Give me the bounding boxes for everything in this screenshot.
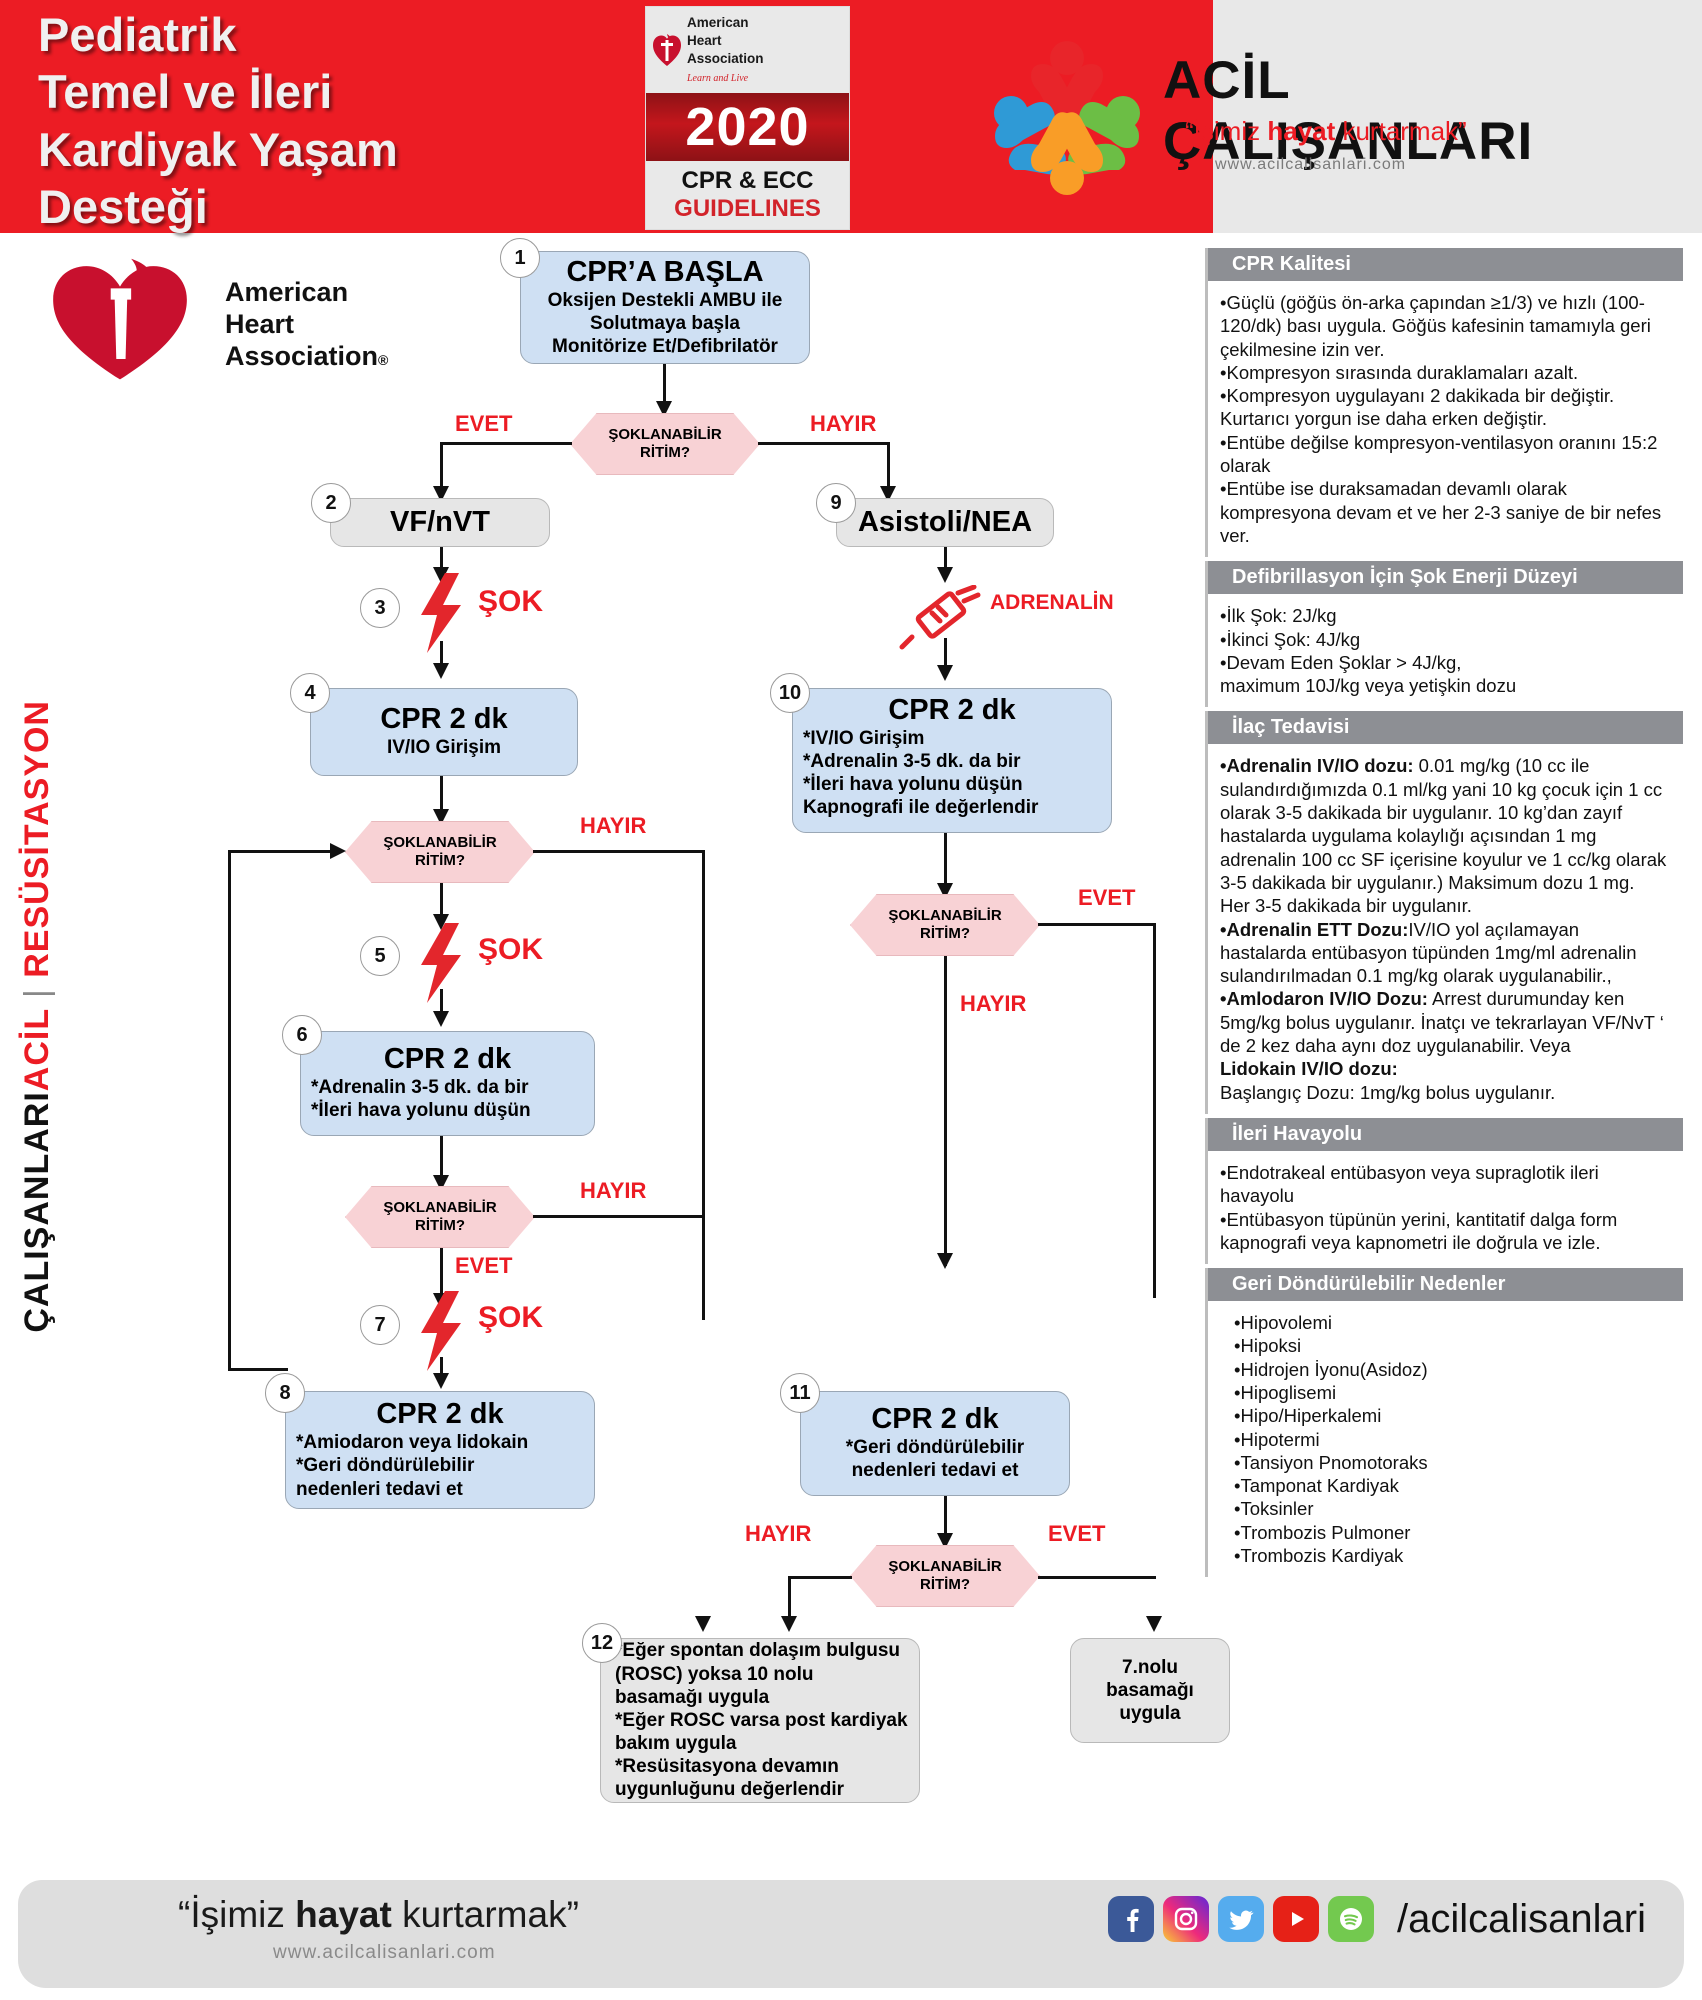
connector-d5-left [788, 1576, 852, 1579]
drug-item-4-label: Lidokain IV/IO dozu: [1220, 1058, 1398, 1079]
arrow-adr [937, 665, 954, 681]
slogan-post: kurtarmak” [1335, 116, 1466, 146]
node-2-title: VF/nVT [390, 507, 490, 539]
step-number-8: 8 [265, 1373, 305, 1413]
node-cpr-2dk-10[interactable]: CPR 2 dk *IV/IO Girişim *Adrenalin 3-5 d… [792, 688, 1112, 833]
spotify-icon[interactable] [1328, 1896, 1374, 1942]
connector-d2-right-down [702, 850, 705, 1320]
social-links: /acilcalisanlari [1108, 1896, 1646, 1942]
node-8-line-2: *Geri döndürülebilir [296, 1454, 584, 1477]
node-vf-nvt[interactable]: VF/nVT [330, 498, 550, 547]
brand-name: ACİL ÇALIŞANLARI [1163, 50, 1545, 172]
cause-item-3: •Hidrojen İyonu(Asidoz) [1220, 1358, 1669, 1381]
algorithm-flowchart: 1 CPR’A BAŞLA Oksijen Destekli AMBU ile … [0, 233, 1195, 1823]
panel-body-advanced-airway: •Endotrakeal entübasyon veya supraglotik… [1208, 1151, 1683, 1264]
arrow-5 [433, 1011, 450, 1027]
node-1-line-3: Monitörize Et/Defibrilatör [552, 335, 778, 358]
drug-item-5: Başlangıç Dozu: 1mg/kg bolus uygulanır. [1220, 1081, 1669, 1104]
cpr-quality-item-4: •Entübe değilse kompresyon-ventilasyon o… [1220, 431, 1669, 478]
arrow-9 [937, 567, 954, 583]
badge-year: 2020 [646, 93, 849, 161]
decision-3-line-2: RİTİM? [415, 1217, 465, 1235]
connector-d5-right [1038, 1576, 1156, 1579]
node-10-line-1: *IV/IO Girişim [803, 727, 1101, 750]
step-number-12: 12 [582, 1623, 622, 1663]
node-4-line-1: IV/IO Girişim [387, 736, 501, 759]
decision-3-line-1: ŞOKLANABİLİR [383, 1199, 496, 1217]
label-yes-3: EVET [455, 1253, 512, 1279]
node-6-line-1: *Adrenalin 3-5 dk. da bir [311, 1076, 584, 1099]
cause-item-6: •Hipotermi [1220, 1428, 1669, 1451]
arrow-into-12-a [695, 1616, 712, 1632]
step-number-2: 2 [311, 483, 351, 523]
panel-body-cpr-quality: •Güçlü (göğüs ön-arka çapından ≥1/3) ve … [1208, 281, 1683, 557]
connector-loop-left-vert [228, 850, 231, 1370]
node-8-title: CPR 2 dk [376, 1399, 503, 1431]
slogan-pre: “İşimiz [1185, 116, 1267, 146]
step-number-3: 3 [360, 588, 400, 628]
node-4-title: CPR 2 dk [380, 704, 507, 736]
node-8-line-3: nedenleri tedavi et [296, 1478, 584, 1501]
arrow-loop-in [330, 843, 346, 860]
aha-2020-guidelines-badge: American Heart Association Learn and Liv… [645, 6, 850, 230]
decision-4-line-2: RİTİM? [920, 925, 970, 943]
node-12-line-7: uygunluğunu değerlendir [615, 1778, 909, 1801]
facebook-icon[interactable] [1108, 1896, 1154, 1942]
node-12-line-2: (ROSC) yoksa 10 nolu [615, 1663, 909, 1686]
label-no-4: HAYIR [960, 991, 1026, 1017]
node-cpr-2dk-6[interactable]: CPR 2 dk *Adrenalin 3-5 dk. da bir *İler… [300, 1031, 595, 1136]
label-yes-4: EVET [1078, 885, 1135, 911]
instagram-icon[interactable] [1163, 1896, 1209, 1942]
footer-slogan-post: kurtarmak” [392, 1894, 579, 1935]
shock-label-3: ŞOK [478, 585, 543, 619]
brand-logo-block: ACİL ÇALIŞANLARI “İşimiz hayat kurtarmak… [985, 28, 1545, 208]
label-yes-5: EVET [1048, 1521, 1105, 1547]
decision-5-line-2: RİTİM? [920, 1576, 970, 1594]
connector-d4-right-down [1153, 923, 1156, 1298]
step-number-5: 5 [360, 936, 400, 976]
page-title: Pediatrik Temel ve İleri Kardiyak Yaşam … [38, 6, 658, 235]
cause-item-4: •Hipoglisemi [1220, 1381, 1669, 1404]
syringe-icon [898, 585, 984, 658]
arrow-d4 [937, 1253, 954, 1269]
panel-advanced-airway: İleri Havayolu •Endotrakeal entübasyon v… [1205, 1118, 1683, 1264]
panel-title-advanced-airway: İleri Havayolu [1208, 1118, 1683, 1151]
badge-org-line3: Association [687, 51, 764, 66]
arrow-goto7 [1146, 1616, 1163, 1632]
panel-body-shock-energy: •İlk Şok: 2J/kg •İkinci Şok: 4J/kg •Deva… [1208, 594, 1683, 707]
youtube-icon[interactable] [1273, 1896, 1319, 1942]
panel-title-drug-therapy: İlaç Tedavisi [1208, 711, 1683, 744]
drug-item-2: •Adrenalin ETT Dozu:IV/IO yol açılamayan… [1220, 918, 1669, 988]
decision-1-line-1: ŞOKLANABİLİR [608, 426, 721, 444]
footer-slogan: “İşimiz hayat kurtarmak” [178, 1894, 579, 1936]
step-number-11: 11 [780, 1373, 820, 1413]
arrow-d5-left [781, 1616, 798, 1632]
footer-url: www.acilcalisanlari.com [273, 1942, 496, 1964]
cpr-quality-item-2: •Kompresyon sırasında duraklamaları azal… [1220, 361, 1669, 384]
node-12-line-4: *Eğer ROSC varsa post kardiyak [615, 1709, 909, 1732]
title-line-1: Pediatrik [38, 6, 658, 63]
cause-item-9: •Toksinler [1220, 1497, 1669, 1520]
node-12-line-5: bakım uygula [615, 1732, 909, 1755]
node-12-line-1: *Eğer spontan dolaşım bulgusu [615, 1639, 909, 1662]
panel-body-drug-therapy: •Adrenalin IV/IO dozu: 0.01 mg/kg (10 cc… [1208, 744, 1683, 1113]
airway-item-1: •Endotrakeal entübasyon veya supraglotik… [1220, 1161, 1669, 1208]
panel-cpr-quality: CPR Kalitesi •Güçlü (göğüs ön-arka çapın… [1205, 248, 1683, 557]
node-start-cpr[interactable]: CPR’A BAŞLA Oksijen Destekli AMBU ile So… [520, 251, 810, 364]
node-cpr-2dk-4[interactable]: CPR 2 dk IV/IO Girişim [310, 688, 578, 776]
panel-title-cpr-quality: CPR Kalitesi [1208, 248, 1683, 281]
connector-d1-left [440, 442, 572, 445]
cause-item-10: •Trombozis Pulmoner [1220, 1521, 1669, 1544]
brand-slogan: “İşimiz hayat kurtarmak” [1185, 116, 1467, 147]
cpr-quality-item-1: •Güçlü (göğüs ön-arka çapından ≥1/3) ve … [1220, 291, 1669, 361]
shock-label-7: ŞOK [478, 1301, 543, 1335]
node-10-line-3: *İleri hava yolunu düşün [803, 773, 1101, 796]
connector-d3-right [533, 1215, 705, 1218]
decision-shockable-rhythm-5[interactable]: ŞOKLANABİLİR RİTİM? [850, 1545, 1040, 1607]
adrenalin-label: ADRENALİN [990, 591, 1114, 615]
acil-calisanlari-people-icon [985, 36, 1150, 201]
drug-item-1: •Adrenalin IV/IO dozu: 0.01 mg/kg (10 cc… [1220, 754, 1669, 917]
decision-shockable-rhythm-4[interactable]: ŞOKLANABİLİR RİTİM? [850, 894, 1040, 956]
step-number-1: 1 [500, 238, 540, 278]
decision-4-line-1: ŞOKLANABİLİR [888, 907, 1001, 925]
connector-d4-down [944, 956, 947, 1266]
panel-body-reversible-causes: •Hipovolemi •Hipoksi •Hidrojen İyonu(Asi… [1208, 1301, 1683, 1577]
title-line-4: Desteği [38, 178, 658, 235]
connector-d1-right [758, 442, 890, 445]
arrow-3 [433, 663, 450, 679]
cause-item-8: •Tamponat Kardiyak [1220, 1474, 1669, 1497]
shock-label-5: ŞOK [478, 933, 543, 967]
badge-tagline: Learn and Live [687, 73, 748, 84]
step-number-6: 6 [282, 1015, 322, 1055]
decision-2-line-1: ŞOKLANABİLİR [383, 834, 496, 852]
decision-shockable-rhythm-3[interactable]: ŞOKLANABİLİR RİTİM? [345, 1186, 535, 1248]
connector-8-loop-out [228, 1368, 288, 1371]
drug-item-1-label: •Adrenalin IV/IO dozu: [1220, 755, 1414, 776]
shock-energy-item-4: maximum 10J/kg veya yetişkin dozu [1220, 674, 1669, 697]
badge-org-text: American Heart Association Learn and Liv… [687, 14, 764, 86]
badge-org: American Heart Association Learn and Liv… [646, 7, 849, 93]
node-6-line-2: *İleri hava yolunu düşün [311, 1099, 584, 1122]
decision-2-line-2: RİTİM? [415, 852, 465, 870]
goto7-line-2: basamağı [1106, 1679, 1194, 1702]
node-10-title: CPR 2 dk [888, 695, 1015, 727]
decision-shockable-rhythm-1[interactable]: ŞOKLANABİLİR RİTİM? [570, 413, 760, 475]
decision-5-line-1: ŞOKLANABİLİR [888, 1558, 1001, 1576]
drug-item-2-label: •Adrenalin ETT Dozu: [1220, 919, 1408, 940]
panel-reversible-causes: Geri Döndürülebilir Nedenler •Hipovolemi… [1205, 1268, 1683, 1577]
node-10-line-4: Kapnografi ile değerlendir [803, 796, 1101, 819]
step-number-4: 4 [290, 673, 330, 713]
shock-energy-item-2: •İkinci Şok: 4J/kg [1220, 628, 1669, 651]
step-number-9: 9 [816, 483, 856, 523]
slogan-bold: hayat [1267, 116, 1335, 146]
panel-title-shock-energy: Defibrillasyon İçin Şok Enerji Düzeyi [1208, 561, 1683, 594]
footer-slogan-pre: “İşimiz [178, 1894, 295, 1935]
connector-d4-right [1038, 923, 1156, 926]
cpr-quality-item-3: •Kompresyon uygulayanı 2 dakikada bir de… [1220, 384, 1669, 431]
badge-guidelines: GUIDELINES [674, 195, 821, 223]
step-number-7: 7 [360, 1305, 400, 1345]
connector-d2-right [533, 850, 705, 853]
node-11-line-1: *Geri döndürülebilir [846, 1436, 1024, 1459]
airway-item-2: •Entübasyon tüpünün yerini, kantitatif d… [1220, 1208, 1669, 1255]
node-goto-step-7[interactable]: 7.nolu basamağı uygula [1070, 1638, 1230, 1743]
goto7-line-3: uygula [1119, 1702, 1180, 1725]
node-1-title: CPR’A BAŞLA [566, 257, 763, 289]
drug-item-1-text: 0.01 mg/kg (10 cc ile sulandırdığımızda … [1220, 755, 1666, 916]
badge-cpr-ecc-block: CPR & ECC GUIDELINES [646, 161, 849, 229]
shock-energy-item-1: •İlk Şok: 2J/kg [1220, 604, 1669, 627]
node-12-line-6: *Resüsitasyona devamın [615, 1755, 909, 1778]
footer-slogan-bold: hayat [295, 1894, 392, 1935]
node-6-title: CPR 2 dk [384, 1044, 511, 1076]
label-no-5: HAYIR [745, 1521, 811, 1547]
twitter-icon[interactable] [1218, 1896, 1264, 1942]
drug-item-3-label: •Amlodaron IV/IO Dozu: [1220, 988, 1428, 1009]
node-11-title: CPR 2 dk [871, 1404, 998, 1436]
cause-item-5: •Hipo/Hiperkalemi [1220, 1404, 1669, 1427]
decision-shockable-rhythm-2[interactable]: ŞOKLANABİLİR RİTİM? [345, 821, 535, 883]
node-12-line-3: basamağı uygula [615, 1686, 909, 1709]
node-1-line-1: Oksijen Destekli AMBU ile [548, 289, 783, 312]
badge-org-line1: American [687, 15, 749, 30]
shock-energy-item-3: •Devam Eden Şoklar > 4J/kg, [1220, 651, 1669, 674]
panel-title-reversible-causes: Geri Döndürülebilir Nedenler [1208, 1268, 1683, 1301]
reference-sidebar: CPR Kalitesi •Güçlü (göğüs ön-arka çapın… [1205, 248, 1683, 1581]
aha-heart-torch-icon [652, 33, 682, 67]
cause-item-11: •Trombozis Kardiyak [1220, 1544, 1669, 1567]
cause-item-7: •Tansiyon Pnomotoraks [1220, 1451, 1669, 1474]
label-no-1: HAYIR [810, 411, 876, 437]
page-header: Pediatrik Temel ve İleri Kardiyak Yaşam … [0, 0, 1702, 233]
badge-cpr-ecc: CPR & ECC [681, 167, 813, 195]
drug-item-3: •Amlodaron IV/IO Dozu: Arrest durumunday… [1220, 987, 1669, 1057]
title-line-3: Kardiyak Yaşam [38, 121, 658, 178]
connector-loop-left-in [228, 850, 338, 853]
node-cpr-2dk-8[interactable]: CPR 2 dk *Amiodaron veya lidokain *Geri … [285, 1391, 595, 1509]
brand-url: www.acilcalisanlari.com [1215, 156, 1406, 174]
goto7-line-1: 7.nolu [1122, 1656, 1178, 1679]
decision-1-line-2: RİTİM? [640, 444, 690, 462]
node-9-title: Asistoli/NEA [858, 507, 1032, 539]
page-footer: “İşimiz hayat kurtarmak” www.acilcalisan… [18, 1880, 1684, 1988]
step-number-10: 10 [770, 673, 810, 713]
node-8-line-1: *Amiodaron veya lidokain [296, 1431, 584, 1454]
node-post-rosc-12[interactable]: *Eğer spontan dolaşım bulgusu (ROSC) yok… [600, 1638, 920, 1803]
badge-org-line2: Heart [687, 33, 722, 48]
drug-item-4: Lidokain IV/IO dozu: [1220, 1057, 1669, 1080]
social-handle: /acilcalisanlari [1397, 1897, 1646, 1942]
node-cpr-2dk-11[interactable]: CPR 2 dk *Geri döndürülebilir nedenleri … [800, 1391, 1070, 1496]
arrow-7 [433, 1373, 450, 1389]
cause-item-1: •Hipovolemi [1220, 1311, 1669, 1334]
label-no-2: HAYIR [580, 813, 646, 839]
label-yes-1: EVET [455, 411, 512, 437]
node-1-line-2: Solutmaya başla [590, 312, 740, 335]
node-asistoli-nea[interactable]: Asistoli/NEA [836, 498, 1054, 547]
panel-shock-energy: Defibrillasyon İçin Şok Enerji Düzeyi •İ… [1205, 561, 1683, 707]
node-10-line-2: *Adrenalin 3-5 dk. da bir [803, 750, 1101, 773]
label-no-3: HAYIR [580, 1178, 646, 1204]
node-11-line-2: nedenleri tedavi et [852, 1459, 1019, 1482]
panel-drug-therapy: İlaç Tedavisi •Adrenalin IV/IO dozu: 0.0… [1205, 711, 1683, 1113]
title-line-2: Temel ve İleri [38, 63, 658, 120]
cpr-quality-item-5: •Entübe ise duraksamadan devamlı olarak … [1220, 477, 1669, 547]
cause-item-2: •Hipoksi [1220, 1334, 1669, 1357]
